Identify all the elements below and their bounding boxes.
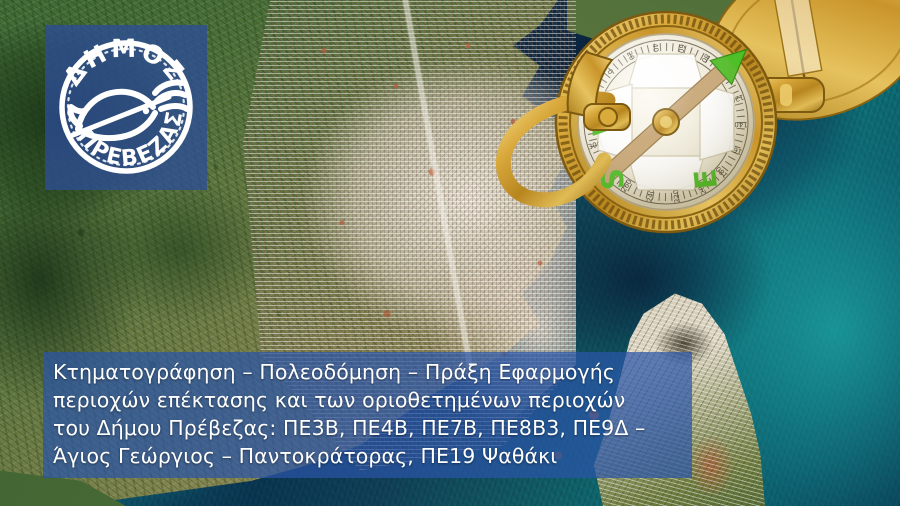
title-slide-image: ΔΗΜΟΣ ΠΡΕΒΕΖΑΣ xyxy=(0,0,900,506)
caption-line-2: περιοχών επέκτασης και των οριοθετημένων… xyxy=(53,386,692,414)
municipality-logo-badge: ΔΗΜΟΣ ΠΡΕΒΕΖΑΣ xyxy=(45,25,207,190)
caption-line-4: Άγιος Γεώργιος – Παντοκράτορας, ΠΕ19 Ψαθ… xyxy=(53,442,692,470)
caption-line-3: του Δήμου Πρέβεζας: ΠΕ3Β, ΠΕ4Β, ΠΕ7Β, ΠΕ… xyxy=(53,414,692,442)
caption-line-1: Κτηματογράφηση – Πολεοδόμηση – Πράξη Εφα… xyxy=(53,358,692,386)
logo-top-text: ΔΗΜΟΣ xyxy=(58,34,192,91)
municipality-seal-icon: ΔΗΜΟΣ ΠΡΕΒΕΖΑΣ xyxy=(45,25,207,190)
caption-banner: Κτηματογράφηση – Πολεοδόμηση – Πράξη Εφα… xyxy=(43,352,692,478)
